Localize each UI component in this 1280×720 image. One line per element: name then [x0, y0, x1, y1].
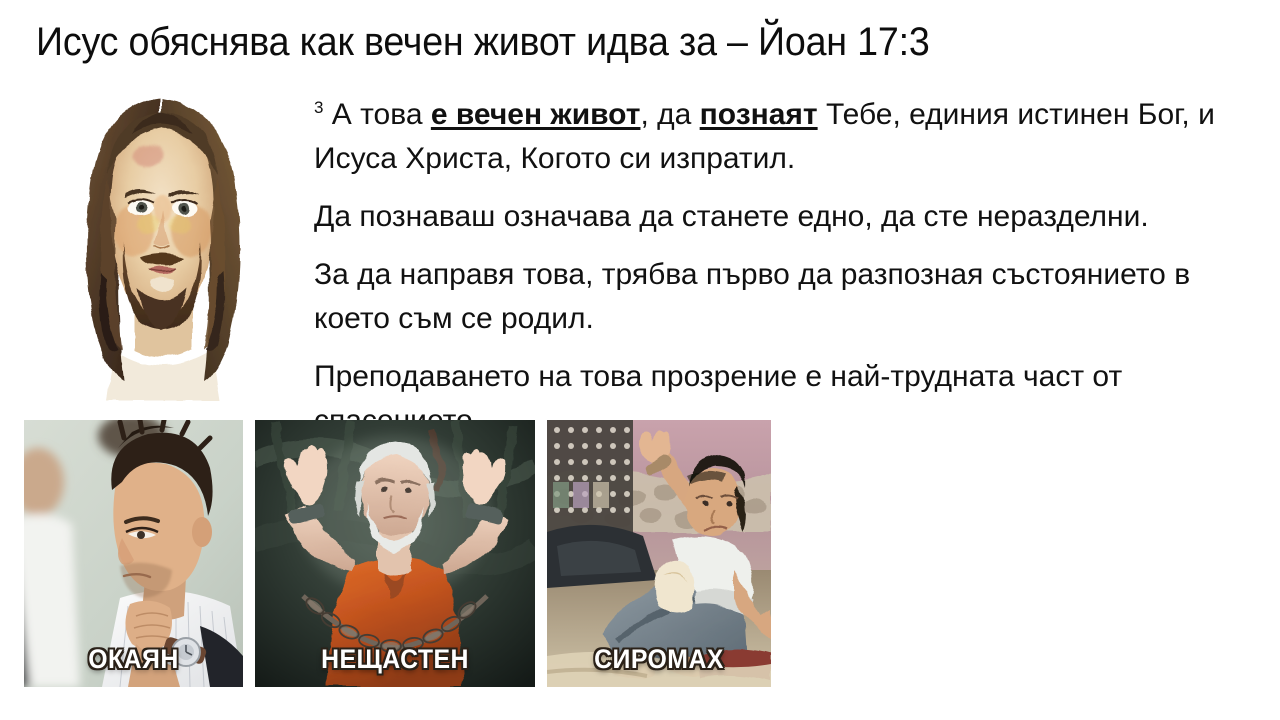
photo-caption-okayan: ОКАЯН — [33, 644, 234, 675]
body-p1-emphasis-1: е вечен живот — [431, 98, 641, 131]
body-p1-segment-1: А това — [323, 98, 430, 131]
body-p1-emphasis-2: познаят — [700, 98, 818, 131]
page-title: Исус обяснява как вечен живот идва за – … — [36, 18, 1164, 66]
jesus-portrait-image — [62, 82, 262, 402]
photo-card-siromah: СИРОМАХ — [547, 420, 771, 687]
photo-card-okayan: ОКАЯН — [24, 420, 243, 687]
body-p1-segment-2: , да — [640, 98, 699, 131]
photo-card-neshtasten: НЕЩАСТЕН — [255, 420, 535, 687]
photo-caption-neshtasten: НЕЩАСТЕН — [266, 644, 524, 675]
body-paragraph-2: Да познаваш означава да станете едно, да… — [314, 195, 1242, 239]
body-paragraph-3: За да направя това, трябва първо да разп… — [314, 253, 1242, 341]
slide-body-text: 3 А това е вечен живот, да познаят Тебе,… — [314, 93, 1242, 443]
photo-caption-siromah: СИРОМАХ — [556, 644, 762, 675]
body-paragraph-1: 3 А това е вечен живот, да познаят Тебе,… — [314, 93, 1242, 181]
